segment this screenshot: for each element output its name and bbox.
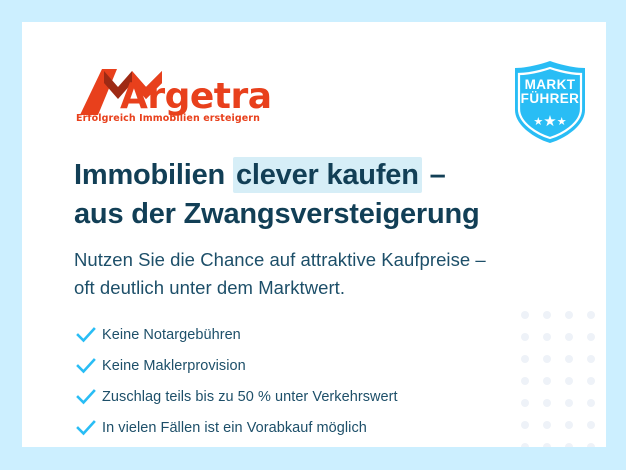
dot <box>565 377 573 385</box>
promo-card: Argetra Erfolgreich Immobilien ersteiger… <box>22 22 606 447</box>
page-title: Immobilien clever kaufen – aus der Zwang… <box>74 156 574 234</box>
headline-part-1: Immobilien <box>74 159 233 191</box>
list-item: Keine Maklerprovision <box>76 350 546 381</box>
list-item-label: Zuschlag teils bis zu 50 % unter Verkehr… <box>102 389 398 405</box>
check-icon <box>76 327 102 343</box>
dot <box>565 421 573 429</box>
dot <box>587 443 595 447</box>
dot <box>565 311 573 319</box>
dot <box>587 355 595 363</box>
check-icon <box>76 389 102 405</box>
dot <box>565 333 573 341</box>
dot <box>543 443 551 447</box>
headline-part-2: – <box>422 159 446 191</box>
list-item: In vielen Fällen ist ein Vorabkauf mögli… <box>76 412 546 443</box>
dot <box>587 399 595 407</box>
subheading: Nutzen Sie die Chance auf attraktive Kau… <box>74 246 574 302</box>
dot <box>521 311 529 319</box>
list-item-label: Keine Maklerprovision <box>102 358 246 374</box>
subheading-line-2: oft deutlich unter dem Marktwert. <box>74 277 345 298</box>
headline-line-2: aus der Zwangsversteigerung <box>74 198 480 230</box>
headline-highlight: clever kaufen <box>233 157 422 193</box>
dot <box>587 377 595 385</box>
check-icon <box>76 358 102 374</box>
list-item-label: Keine Notargebühren <box>102 327 241 343</box>
star-icon: ★ <box>533 116 543 128</box>
list-item: Zuschlag teils bis zu 50 % unter Verkehr… <box>76 381 546 412</box>
dot <box>587 421 595 429</box>
check-icon <box>76 420 102 436</box>
star-icon: ★ <box>557 116 567 128</box>
dot <box>543 311 551 319</box>
market-leader-badge: MARKT FÜHRER ★★★ <box>506 58 594 146</box>
subheading-line-1: Nutzen Sie die Chance auf attraktive Kau… <box>74 249 486 270</box>
logo-tagline: Erfolgreich Immobilien ersteigern <box>76 113 260 124</box>
star-icon: ★ <box>543 113 556 130</box>
list-item-label: In vielen Fällen ist ein Vorabkauf mögli… <box>102 420 367 436</box>
dot <box>587 333 595 341</box>
argetra-logo[interactable]: Argetra Erfolgreich Immobilien ersteiger… <box>74 65 274 133</box>
dot <box>587 311 595 319</box>
list-item: Keine Notargebühren <box>76 319 546 350</box>
badge-stars: ★★★ <box>506 114 594 129</box>
dot <box>521 443 529 447</box>
logo-wordmark: Argetra <box>120 79 272 115</box>
dot <box>565 355 573 363</box>
shield-icon <box>506 58 594 146</box>
dot <box>565 399 573 407</box>
dot <box>565 443 573 447</box>
benefits-checklist: Keine Notargebühren Keine Maklerprovisio… <box>76 319 546 443</box>
